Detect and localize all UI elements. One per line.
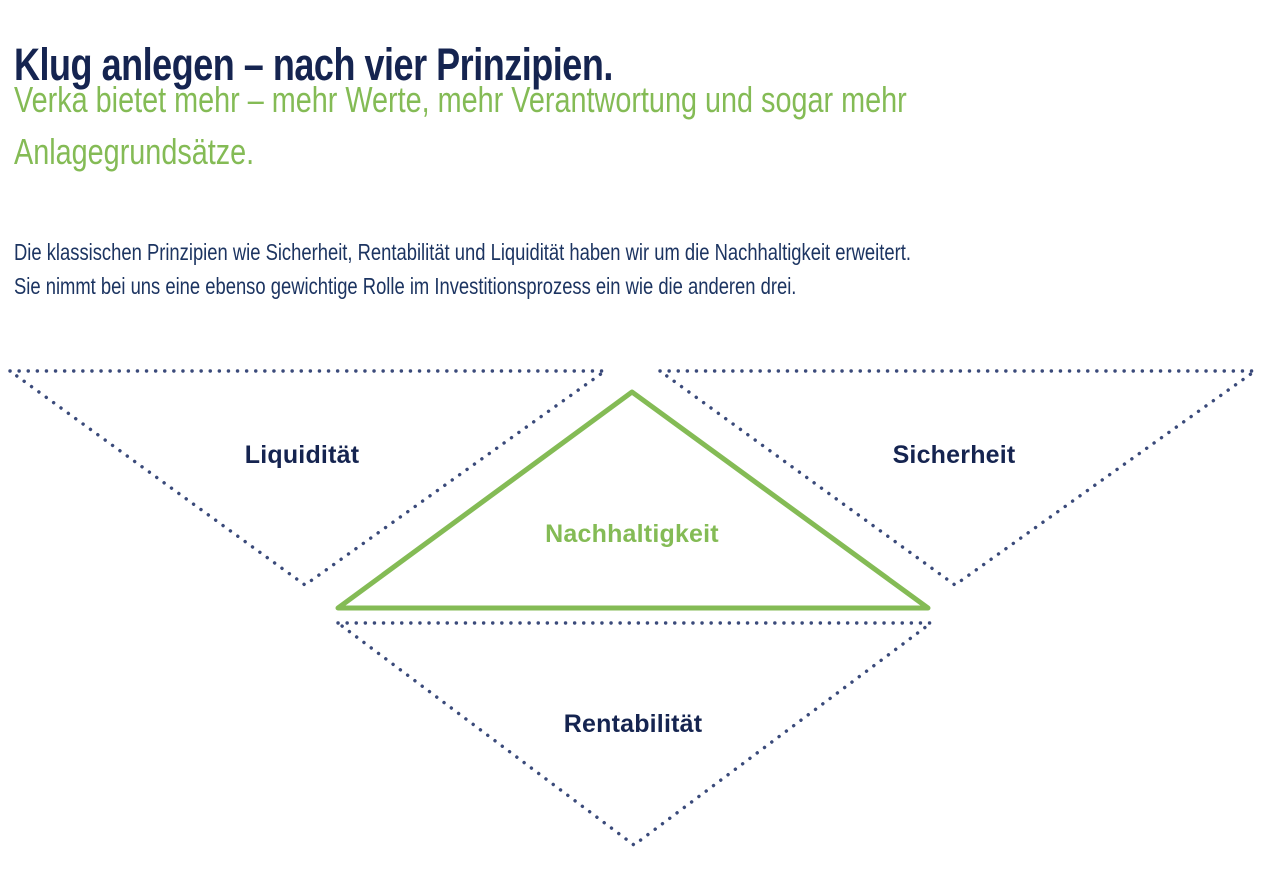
- body-paragraph-line-2: Sie nimmt bei uns eine ebenso gewichtige…: [14, 269, 1262, 303]
- page-subtitle-line-1: Verka bietet mehr – mehr Werte, mehr Ver…: [14, 79, 907, 120]
- body-paragraph: Die klassischen Prinzipien wie Sicherhei…: [14, 235, 1262, 303]
- page-subtitle-line-2: Anlagegrundsätze.: [14, 131, 254, 172]
- principles-diagram-svg: Liquidität Sicherheit Nachhaltigkeit Ren…: [0, 348, 1265, 868]
- label-nachhaltigkeit: Nachhaltigkeit: [545, 520, 719, 548]
- triangle-nachhaltigkeit: [338, 392, 928, 608]
- label-rentabilitaet: Rentabilität: [564, 710, 703, 738]
- label-sicherheit: Sicherheit: [893, 441, 1016, 469]
- principles-diagram: Liquidität Sicherheit Nachhaltigkeit Ren…: [0, 348, 1265, 868]
- label-liquiditaet: Liquidität: [245, 441, 360, 469]
- page-subtitle: Verka bietet mehr – mehr Werte, mehr Ver…: [14, 74, 1166, 178]
- page-root: Klug anlegen – nach vier Prinzipien. Ver…: [0, 0, 1265, 879]
- body-paragraph-line-1: Die klassischen Prinzipien wie Sicherhei…: [14, 235, 1262, 269]
